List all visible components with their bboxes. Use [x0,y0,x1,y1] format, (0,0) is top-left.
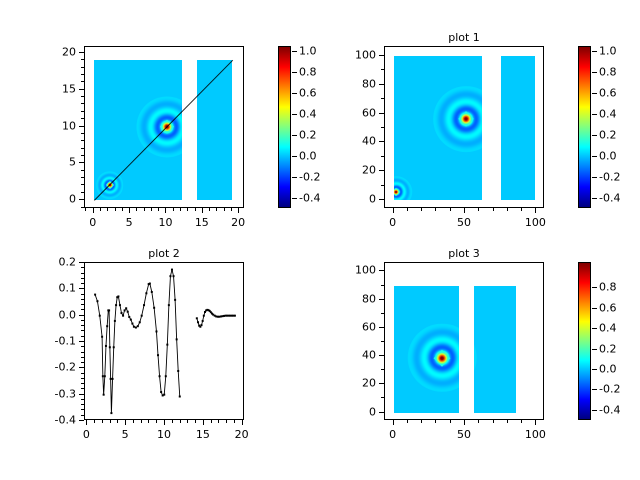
y-major-tick [379,299,384,300]
heatmap-source-halo [474,323,477,392]
data-point-marker [115,304,117,306]
data-point-marker [149,283,151,285]
x-minor-tick [110,420,111,423]
data-point-marker [165,375,167,377]
y-tick-label: 0.1 [59,283,77,294]
y-minor-tick [81,170,84,171]
x-major-tick [535,420,536,425]
x-minor-tick [85,208,86,211]
y-minor-tick [81,267,84,268]
x-minor-tick [478,420,479,423]
x-minor-tick [435,208,436,211]
x-minor-tick [187,420,188,423]
data-point-marker [159,375,161,377]
data-point-marker [125,307,127,309]
x-tick-label: 100 [525,429,546,440]
y-minor-tick [81,362,84,363]
x-minor-tick [450,420,451,423]
data-point-marker [137,325,139,327]
figure-canvas: 0510152005101520-0.4-0.20.00.20.40.60.81… [0,0,640,480]
y-major-tick [379,412,384,413]
plot-area-top-right [385,47,543,207]
data-point-marker [104,375,106,377]
x-minor-tick [407,420,408,423]
data-point-marker [143,304,145,306]
data-point-marker [141,315,143,317]
data-point-marker [203,315,205,317]
colorbar-tick-label: 0.2 [599,129,617,140]
x-minor-tick [180,208,181,211]
y-minor-tick [81,59,84,60]
x-minor-tick [141,420,142,423]
heatmap-panel [394,286,460,413]
plot-area-top-left [85,47,243,207]
line-series-group [85,263,243,419]
data-point-marker [197,321,199,323]
y-major-tick [79,52,84,53]
x-minor-tick [450,208,451,211]
colorbar-tick [592,177,597,178]
line-path [95,270,180,414]
colorbar-tick [592,308,597,309]
y-tick-label: 20 [62,46,76,57]
colorbar-tick-label: 0.2 [599,343,617,354]
y-major-tick [79,126,84,127]
y-major-tick [79,420,84,421]
heatmap-panel [197,60,232,200]
colorbar-tick [592,328,597,329]
y-major-tick [79,341,84,342]
x-tick-label: 50 [457,429,471,440]
y-minor-tick [81,304,84,305]
x-tick-label: 100 [525,217,546,228]
y-minor-tick [81,192,84,193]
x-tick-label: 5 [126,217,133,228]
colorbar-tick [292,114,297,115]
x-major-tick [393,420,394,425]
data-point-marker [114,320,116,322]
x-tick-label: 0 [389,217,396,228]
colorbar-tick-label: 0.4 [599,108,617,119]
y-minor-tick [81,352,84,353]
x-minor-tick [521,420,522,423]
colorbar-tick [292,198,297,199]
y-tick-label: 15 [62,83,76,94]
colorbar-tick [592,389,597,390]
colorbar-tick-label: -0.2 [599,384,620,395]
x-minor-tick [493,208,494,211]
y-major-tick [79,288,84,289]
x-minor-tick [234,420,235,423]
colorbar-tick [592,369,597,370]
x-minor-tick [180,420,181,423]
y-minor-tick [381,341,384,342]
axes-bottom-left [84,262,244,420]
colorbar-tick [292,72,297,73]
y-minor-tick [81,409,84,410]
x-minor-tick [195,420,196,423]
x-minor-tick [102,420,103,423]
y-minor-tick [81,140,84,141]
colorbar-tick [592,51,597,52]
y-major-tick [379,113,384,114]
x-minor-tick [231,208,232,211]
colorbar-tick-label: 1.0 [599,46,617,57]
y-minor-tick [81,383,84,384]
y-major-tick [379,327,384,328]
x-minor-tick [407,208,408,211]
axes-bottom-right [384,262,544,420]
colorbar-tick [592,93,597,94]
x-major-tick [164,420,165,425]
x-minor-tick [136,208,137,211]
x-tick-label: 10 [158,217,172,228]
y-minor-tick [81,373,84,374]
data-point-marker [96,300,98,302]
colorbar-tick-label: 0.0 [299,150,317,161]
y-tick-label: 100 [355,49,376,60]
data-point-marker [103,394,105,396]
y-minor-tick [81,346,84,347]
data-point-marker [94,294,96,296]
x-minor-tick [151,208,152,211]
colorbar-tick-label: -0.4 [599,192,620,203]
data-point-marker [106,325,108,327]
data-point-marker [196,317,198,319]
x-minor-tick [507,420,508,423]
y-minor-tick [81,336,84,337]
title-bottom-left: plot 2 [148,248,180,259]
y-major-tick [79,315,84,316]
title-bottom-right: plot 3 [448,248,480,259]
y-minor-tick [81,357,84,358]
y-minor-tick [81,325,84,326]
x-minor-tick [148,420,149,423]
colorbar-tick [292,93,297,94]
y-minor-tick [381,156,384,157]
y-minor-tick [81,184,84,185]
colorbar-tick-label: 0.8 [599,67,617,78]
x-major-tick [238,208,239,213]
x-major-tick [165,208,166,213]
data-point-marker [176,338,178,340]
colorbar-tick [592,287,597,288]
x-minor-tick [224,208,225,211]
x-minor-tick [158,208,159,211]
plot-area-bottom-right [385,263,543,419]
data-point-marker [201,324,203,326]
colorbar-tick-label: -0.4 [599,404,620,415]
x-minor-tick [94,420,95,423]
x-major-tick [202,208,203,213]
y-minor-tick [381,185,384,186]
heatmap-panel [94,60,183,200]
y-minor-tick [381,397,384,398]
data-point-marker [234,315,236,317]
y-major-tick [79,89,84,90]
data-point-marker [121,312,123,314]
x-minor-tick [187,208,188,211]
colorbar-top-left [278,46,291,208]
x-tick-label: 5 [122,429,129,440]
x-major-tick [393,208,394,213]
colorbar-tick [592,72,597,73]
x-minor-tick [172,420,173,423]
data-point-marker [102,375,104,377]
y-minor-tick [81,299,84,300]
x-tick-label: 0 [389,429,396,440]
data-point-marker [163,394,165,396]
y-tick-label: 20 [362,165,376,176]
y-minor-tick [81,283,84,284]
y-tick-label: 80 [362,293,376,304]
x-minor-tick [211,420,212,423]
y-tick-label: 20 [362,378,376,389]
y-tick-label: 40 [362,350,376,361]
data-point-marker [124,309,126,311]
heatmap-panel [501,56,535,201]
data-point-marker [130,319,132,321]
colorbar-tick [292,51,297,52]
y-major-tick [379,84,384,85]
y-minor-tick [81,294,84,295]
x-minor-tick [478,208,479,211]
x-minor-tick [493,420,494,423]
x-minor-tick [216,208,217,211]
y-tick-label: -0.2 [55,362,76,373]
x-major-tick [129,208,130,213]
colorbar-tick [592,198,597,199]
data-point-marker [110,378,112,380]
colorbar-tick-label: 0.6 [599,302,617,313]
colorbar-tick-label: 0.8 [299,67,317,78]
data-point-marker [202,320,204,322]
colorbar-tick [292,156,297,157]
y-tick-label: 0.2 [59,257,77,268]
data-point-marker [119,304,121,306]
y-tick-label: -0.4 [55,415,76,426]
y-major-tick [379,270,384,271]
data-point-marker [157,354,159,356]
data-point-marker [99,315,101,317]
y-tick-label: -0.3 [55,388,76,399]
colorbar-tick-label: 0.0 [599,364,617,375]
y-minor-tick [81,404,84,405]
colorbar-tick-label: 0.8 [599,282,617,293]
data-point-marker [101,336,103,338]
y-minor-tick [81,103,84,104]
y-major-tick [379,141,384,142]
y-major-tick [79,162,84,163]
y-major-tick [379,355,384,356]
x-minor-tick [421,208,422,211]
y-major-tick [379,55,384,56]
x-minor-tick [133,420,134,423]
x-minor-tick [209,208,210,211]
y-tick-label: 80 [362,78,376,89]
heatmap-panel [394,56,483,201]
y-minor-tick [81,74,84,75]
y-minor-tick [81,278,84,279]
data-point-marker [127,311,129,313]
x-minor-tick [226,420,227,423]
x-major-tick [535,208,536,213]
colorbar-tick-label: 0.6 [599,88,617,99]
title-top-right: plot 1 [448,32,480,43]
plot-area-bottom-left [85,263,243,419]
data-point-marker [133,326,135,328]
x-minor-tick [435,420,436,423]
data-point-marker [131,323,133,325]
y-tick-label: 10 [62,120,76,131]
x-tick-label: 20 [235,429,249,440]
y-minor-tick [81,415,84,416]
y-minor-tick [81,378,84,379]
colorbar-tick-label: 0.6 [299,88,317,99]
y-minor-tick [81,96,84,97]
data-point-marker [168,304,170,306]
data-point-marker [128,316,130,318]
y-minor-tick [81,320,84,321]
x-minor-tick [144,208,145,211]
x-minor-tick [100,208,101,211]
x-minor-tick [107,208,108,211]
data-point-marker [166,344,168,346]
x-major-tick [125,420,126,425]
x-tick-label: 0 [89,217,96,228]
colorbar-tick-label: 0.0 [599,150,617,161]
data-point-marker [113,346,115,348]
colorbar-tick [592,156,597,157]
colorbar-tick [592,410,597,411]
data-point-marker [109,346,111,348]
y-major-tick [79,367,84,368]
data-point-marker [108,309,110,311]
y-tick-label: 0 [69,194,76,205]
x-tick-label: 15 [196,429,210,440]
x-major-tick [86,420,87,425]
y-tick-label: 60 [362,107,376,118]
y-minor-tick [81,81,84,82]
x-major-tick [464,208,465,213]
data-point-marker [155,330,157,332]
x-major-tick [93,208,94,213]
data-point-marker [174,299,176,301]
x-tick-label: 50 [457,217,471,228]
x-tick-label: 0 [83,429,90,440]
colorbar-tick [592,349,597,350]
x-minor-tick [421,420,422,423]
colorbar-tick-label: 1.0 [299,46,317,57]
x-minor-tick [117,420,118,423]
data-point-marker [110,412,112,414]
data-point-marker [105,345,107,347]
colorbar-tick-label: 0.4 [299,108,317,119]
x-minor-tick [115,208,116,211]
data-point-marker [169,275,171,277]
y-major-tick [379,383,384,384]
y-minor-tick [81,155,84,156]
y-minor-tick [381,369,384,370]
y-minor-tick [81,133,84,134]
x-minor-tick [521,208,522,211]
colorbar-tick [292,135,297,136]
data-point-marker [179,396,181,398]
y-minor-tick [381,313,384,314]
colorbar-tick [592,114,597,115]
colorbar-tick-label: 0.2 [299,129,317,140]
y-minor-tick [81,309,84,310]
y-minor-tick [81,67,84,68]
x-minor-tick [218,420,219,423]
y-tick-label: 100 [355,265,376,276]
y-minor-tick [381,98,384,99]
y-minor-tick [81,118,84,119]
y-tick-label: 60 [362,321,376,332]
data-point-marker [122,315,124,317]
line-path [197,310,235,327]
x-minor-tick [195,208,196,211]
data-point-marker [139,321,141,323]
y-minor-tick [81,388,84,389]
colorbar-tick-label: 0.4 [599,323,617,334]
y-minor-tick [381,285,384,286]
colorbar-tick-label: -0.2 [299,171,320,182]
data-point-marker [135,327,137,329]
y-tick-label: 0 [369,194,376,205]
y-minor-tick [381,127,384,128]
colorbar-bottom-right [578,262,591,420]
y-minor-tick [381,69,384,70]
y-minor-tick [81,111,84,112]
y-major-tick [79,199,84,200]
heatmap-source-halo [197,96,198,157]
data-point-marker [145,292,147,294]
y-tick-label: 5 [69,157,76,168]
colorbar-tick-label: -0.2 [599,171,620,182]
data-point-marker [160,391,162,393]
x-tick-label: 15 [195,217,209,228]
x-tick-label: 20 [231,217,245,228]
axes-top-left [84,46,244,208]
x-minor-tick [156,420,157,423]
heatmap-panel [474,286,517,413]
x-minor-tick [173,208,174,211]
data-point-marker [153,307,155,309]
y-tick-label: -0.1 [55,336,76,347]
data-point-marker [151,291,153,293]
y-minor-tick [81,148,84,149]
data-point-marker [112,378,114,380]
data-point-marker [171,269,173,271]
colorbar-tick [292,177,297,178]
data-point-marker [117,295,119,297]
colorbar-top-right [578,46,591,208]
y-minor-tick [81,273,84,274]
data-point-marker [173,275,175,277]
y-tick-label: 0 [369,406,376,417]
x-minor-tick [507,208,508,211]
colorbar-tick [592,135,597,136]
colorbar-tick-label: -0.4 [299,192,320,203]
y-tick-label: 0.0 [59,309,77,320]
x-minor-tick [122,208,123,211]
y-minor-tick [81,207,84,208]
data-point-marker [177,370,179,372]
x-tick-label: 10 [157,429,171,440]
x-major-tick [242,420,243,425]
y-minor-tick [81,177,84,178]
